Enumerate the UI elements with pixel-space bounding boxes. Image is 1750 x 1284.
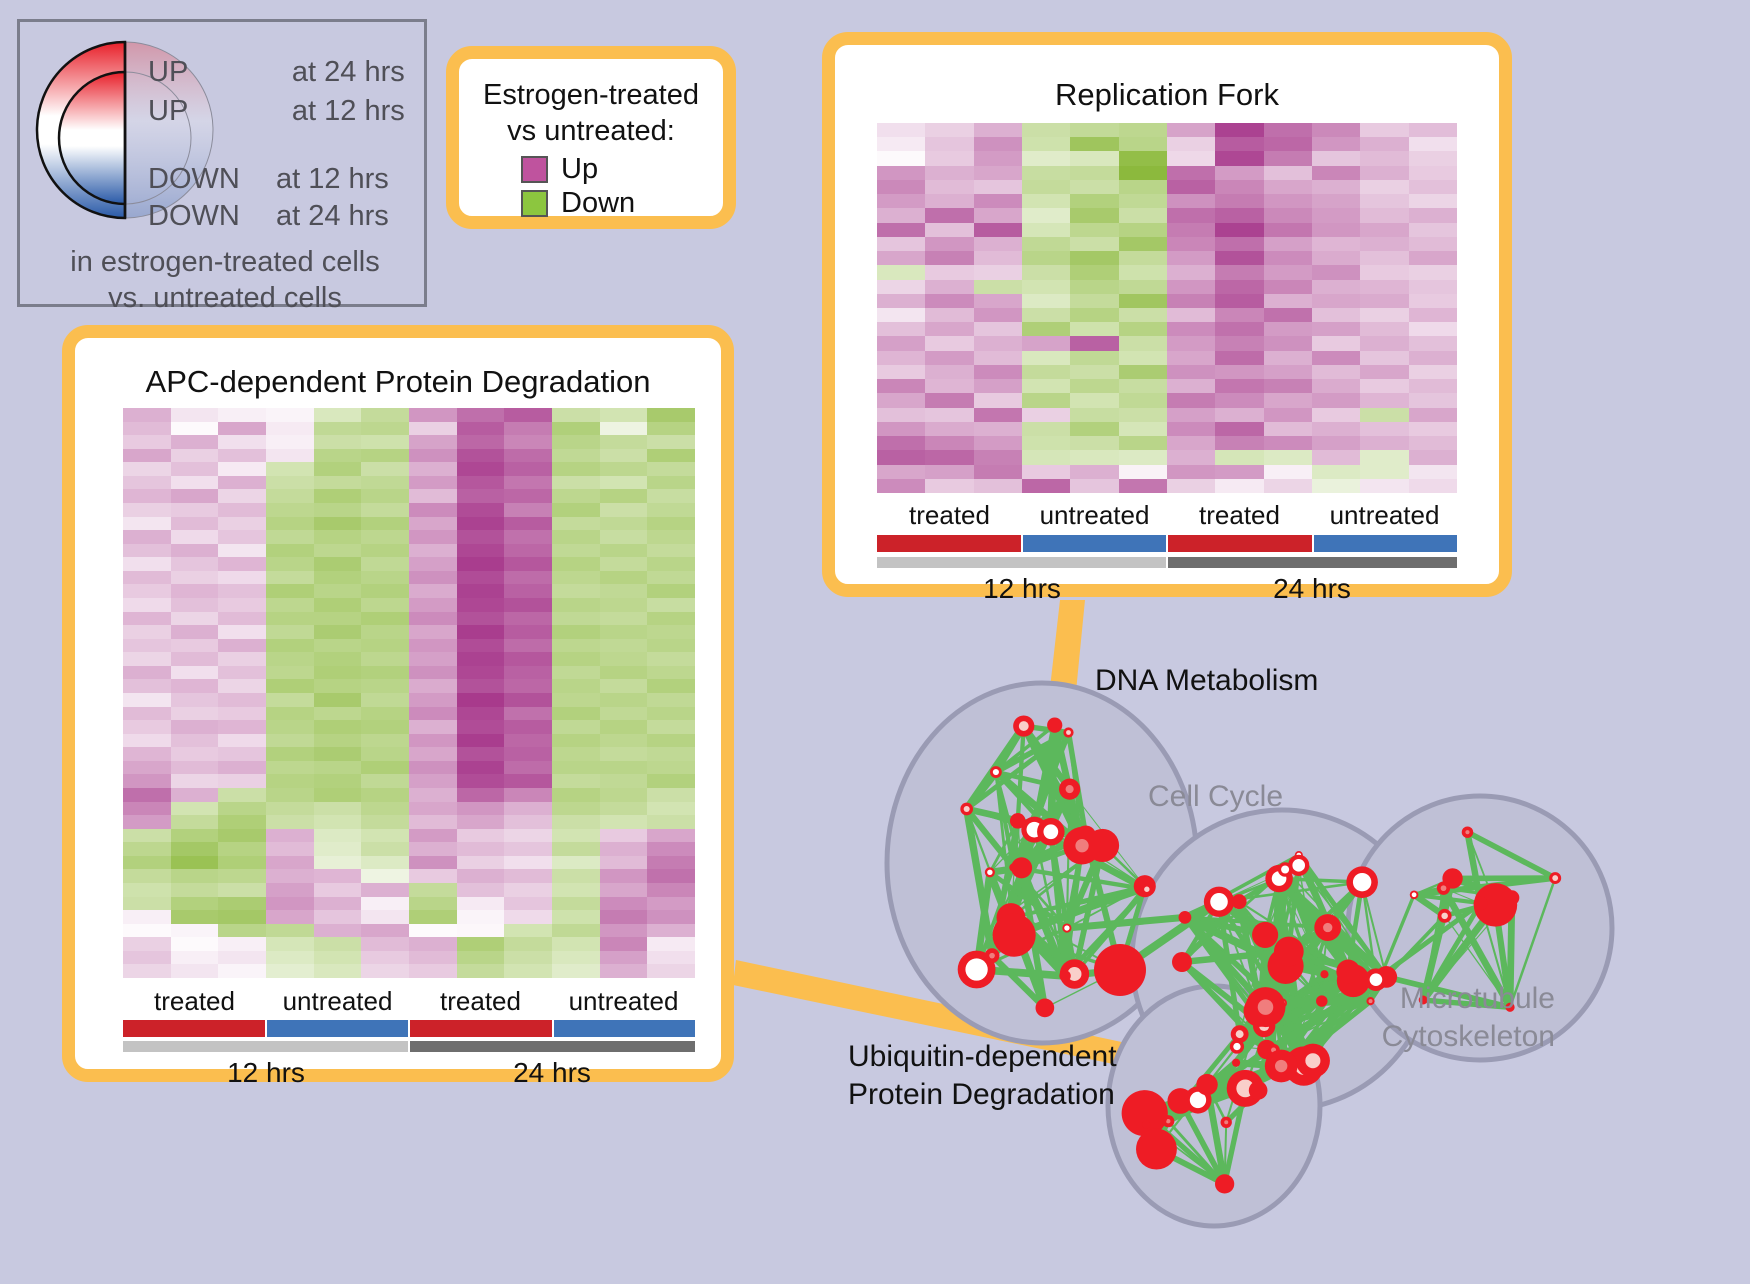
heatmap-cell [361, 571, 409, 585]
heatmap-cell [218, 652, 266, 666]
heatmap-cell [552, 449, 600, 463]
heatmap-cell [925, 336, 973, 350]
heatmap-cell [409, 462, 457, 476]
heatmap-cell [1409, 123, 1457, 137]
key-row-3-label: DOWN [148, 200, 240, 232]
heatmap-cell [171, 883, 219, 897]
heatmap-cell [266, 707, 314, 721]
heatmap-cell [600, 449, 648, 463]
heatmap-cell [361, 761, 409, 775]
heatmap-cell [877, 237, 925, 251]
heatmap-cell [1312, 450, 1360, 464]
heatmap-cell [504, 829, 552, 843]
network-node[interactable] [1047, 717, 1062, 732]
heatmap-cell [504, 584, 552, 598]
heatmap-cell [1264, 379, 1312, 393]
heatmap-cell [877, 123, 925, 137]
heatmap-cell [600, 422, 648, 436]
heatmap-cell [974, 208, 1022, 222]
heatmap-cell [409, 435, 457, 449]
heatmap-cell [925, 194, 973, 208]
heatmap-cell [409, 422, 457, 436]
heatmap-cell [361, 639, 409, 653]
heatmap-cell [1022, 194, 1070, 208]
heatmap-cell [1264, 137, 1312, 151]
heatmap-cell [974, 137, 1022, 151]
network-node[interactable] [1063, 727, 1073, 737]
network-svg [790, 610, 1750, 1279]
heatmap-cell [123, 774, 171, 788]
network-node[interactable] [1036, 999, 1055, 1018]
legend-item-up: Up [521, 155, 598, 184]
heatmap-cell [1167, 351, 1215, 365]
heatmap-cell [1167, 194, 1215, 208]
heatmap-cell [457, 951, 505, 965]
heatmap-cell [361, 544, 409, 558]
heatmap-cell [1119, 322, 1167, 336]
heatmap-cell [974, 436, 1022, 450]
heatmap-cell [1167, 237, 1215, 251]
heatmap-cell [171, 761, 219, 775]
heatmap-cell [457, 625, 505, 639]
network-node[interactable] [1265, 1050, 1298, 1083]
heatmap-cell [925, 237, 973, 251]
heatmap-cell [123, 571, 171, 585]
replication-fork-condition-bar [877, 535, 1457, 552]
heatmap-cell [266, 476, 314, 490]
heatmap-cell [647, 761, 695, 775]
heatmap-cell [552, 679, 600, 693]
heatmap-cell [974, 336, 1022, 350]
heatmap-cell [1167, 322, 1215, 336]
network-node[interactable] [1278, 862, 1292, 876]
heatmap-cell [1409, 408, 1457, 422]
heatmap-cell [552, 842, 600, 856]
heatmap-cell [1070, 408, 1118, 422]
heatmap-cell [266, 679, 314, 693]
heatmap-cell [266, 652, 314, 666]
heatmap-cell [600, 503, 648, 517]
heatmap-cell [1215, 465, 1263, 479]
network-node[interactable] [1011, 857, 1032, 878]
network-node[interactable] [1136, 1129, 1177, 1170]
heatmap-cell [647, 503, 695, 517]
heatmap-cell [925, 436, 973, 450]
heatmap-cell [218, 612, 266, 626]
heatmap-cell [552, 788, 600, 802]
heatmap-cell [647, 720, 695, 734]
heatmap-cell [1312, 351, 1360, 365]
heatmap-cell [504, 747, 552, 761]
heatmap-cell [552, 666, 600, 680]
heatmap-cell [409, 964, 457, 978]
condition-color-block [1314, 535, 1458, 552]
network-node[interactable] [993, 914, 1036, 957]
heatmap-cell [361, 652, 409, 666]
heatmap-cell [218, 571, 266, 585]
heatmap-cell [1360, 422, 1408, 436]
network-node[interactable] [1366, 997, 1374, 1005]
heatmap-cell [457, 693, 505, 707]
network-node-core [965, 958, 987, 980]
heatmap-cell [1215, 208, 1263, 222]
network-node[interactable] [1232, 1059, 1240, 1067]
heatmap-cell [1409, 336, 1457, 350]
heatmap-cell [925, 351, 973, 365]
heatmap-cell [647, 734, 695, 748]
heatmap-cell [504, 924, 552, 938]
network-node[interactable] [1172, 952, 1192, 972]
heatmap-cell [1070, 208, 1118, 222]
network-node[interactable] [1204, 887, 1234, 917]
heatmap-cell [1264, 365, 1312, 379]
heatmap-cell [409, 774, 457, 788]
heatmap-cell [552, 951, 600, 965]
heatmap-cell [409, 408, 457, 422]
heatmap-cell [123, 815, 171, 829]
heatmap-cell [552, 829, 600, 843]
network-node[interactable] [1010, 813, 1026, 829]
heatmap-cell [1215, 436, 1263, 450]
heatmap-cell [266, 788, 314, 802]
heatmap-cell [266, 910, 314, 924]
time-label: 24 hrs [409, 1057, 695, 1089]
network-node[interactable] [1474, 896, 1488, 910]
heatmap-cell [504, 734, 552, 748]
heatmap-cell [361, 517, 409, 531]
network-node[interactable] [1296, 1044, 1330, 1078]
heatmap-cell [1215, 194, 1263, 208]
heatmap-cell [552, 774, 600, 788]
heatmap-cell [171, 720, 219, 734]
heatmap-cell [600, 856, 648, 870]
heatmap-cell [457, 435, 505, 449]
heatmap-cell [1119, 223, 1167, 237]
heatmap-cell [1215, 123, 1263, 137]
heatmap-cell [647, 517, 695, 531]
network-node[interactable] [1314, 914, 1341, 941]
time-color-block [877, 557, 1168, 568]
heatmap-cell [1360, 365, 1408, 379]
heatmap-cell [171, 612, 219, 626]
heatmap-cell [171, 788, 219, 802]
heatmap-cell [171, 842, 219, 856]
heatmap-cell [123, 707, 171, 721]
heatmap-cell [647, 612, 695, 626]
heatmap-cell [1312, 393, 1360, 407]
color-legend-title-line-1: Estrogen-treated [459, 79, 723, 112]
heatmap-cell [123, 693, 171, 707]
heatmap-cell [1264, 151, 1312, 165]
heatmap-cell [647, 462, 695, 476]
heatmap-cell [123, 883, 171, 897]
heatmap-cell [1215, 351, 1263, 365]
heatmap-cell [123, 489, 171, 503]
circle-legend-caption: in estrogen-treated cells vs. untreated … [20, 244, 430, 316]
heatmap-cell [925, 450, 973, 464]
heatmap-cell [361, 598, 409, 612]
heatmap-cell [266, 666, 314, 680]
heatmap-cell [1022, 351, 1070, 365]
heatmap-cell [974, 365, 1022, 379]
heatmap-cell [925, 465, 973, 479]
heatmap-cell [123, 761, 171, 775]
heatmap-cell [1070, 450, 1118, 464]
heatmap-cell [409, 517, 457, 531]
heatmap-cell [504, 883, 552, 897]
heatmap-cell [600, 897, 648, 911]
heatmap-cell [123, 530, 171, 544]
heatmap-cell [171, 951, 219, 965]
network-node[interactable] [1316, 995, 1327, 1006]
network-node[interactable] [1221, 1117, 1232, 1128]
heatmap-cell [1022, 280, 1070, 294]
heatmap-cell [1360, 223, 1408, 237]
heatmap-cell [1070, 336, 1118, 350]
heatmap-cell [218, 747, 266, 761]
heatmap-cell [552, 856, 600, 870]
heatmap-cell [409, 761, 457, 775]
network-node-core [1064, 925, 1069, 930]
heatmap-cell [1264, 308, 1312, 322]
heatmap-cell [218, 598, 266, 612]
network-node[interactable] [1196, 1074, 1217, 1095]
heatmap-cell [1312, 223, 1360, 237]
network-node[interactable] [1336, 960, 1360, 984]
heatmap-cell [266, 544, 314, 558]
replication-fork-condition-labels: treateduntreatedtreateduntreated [877, 500, 1457, 531]
heatmap-cell [552, 408, 600, 422]
heatmap-cell [1409, 322, 1457, 336]
network-node-core [989, 953, 995, 959]
heatmap-cell [600, 869, 648, 883]
heatmap-cell [925, 123, 973, 137]
heatmap-cell [1215, 422, 1263, 436]
heatmap-cell [1312, 123, 1360, 137]
heatmap-cell [171, 856, 219, 870]
heatmap-cell [1264, 479, 1312, 493]
heatmap-cell [974, 280, 1022, 294]
heatmap-cell [1070, 294, 1118, 308]
heatmap-cell [600, 951, 648, 965]
heatmap-cell [1409, 479, 1457, 493]
heatmap-cell [504, 571, 552, 585]
heatmap-cell [1409, 351, 1457, 365]
heatmap-cell [361, 449, 409, 463]
heatmap-cell [314, 774, 362, 788]
heatmap-cell [1022, 151, 1070, 165]
heatmap-cell [647, 557, 695, 571]
heatmap-cell [266, 517, 314, 531]
network-node[interactable] [1013, 715, 1034, 736]
network-node[interactable] [1462, 826, 1473, 837]
network-node[interactable] [1410, 890, 1419, 899]
heatmap-cell [1022, 465, 1070, 479]
heatmap-cell [361, 774, 409, 788]
network-node[interactable] [1437, 882, 1450, 895]
heatmap-cell [361, 788, 409, 802]
heatmap-cell [266, 422, 314, 436]
circle-legend-box: UP at 24 hrs UP at 12 hrs DOWN at 12 hrs… [17, 19, 427, 307]
heatmap-cell [647, 937, 695, 951]
heatmap-cell [1312, 208, 1360, 222]
network-node[interactable] [1549, 872, 1561, 884]
network-node[interactable] [1215, 1174, 1234, 1193]
heatmap-cell [314, 883, 362, 897]
network-diagram: DNA Metabolism Cell Cycle Microtubule Cy… [790, 610, 1750, 1279]
network-node[interactable] [990, 766, 1002, 778]
network-node[interactable] [1062, 923, 1071, 932]
heatmap-cell [171, 707, 219, 721]
heatmap-cell [218, 489, 266, 503]
heatmap-cell [504, 910, 552, 924]
condition-color-block [123, 1020, 267, 1037]
heatmap-cell [877, 151, 925, 165]
panel-replication-fork: Replication Fork treateduntreatedtreated… [822, 32, 1512, 597]
heatmap-cell [314, 707, 362, 721]
heatmap-cell [925, 408, 973, 422]
heatmap-cell [504, 462, 552, 476]
heatmap-cell [457, 774, 505, 788]
network-node[interactable] [1059, 970, 1070, 981]
heatmap-cell [361, 707, 409, 721]
heatmap-cell [1167, 408, 1215, 422]
network-node[interactable] [1438, 909, 1452, 923]
heatmap-cell [1167, 123, 1215, 137]
heatmap-cell [552, 734, 600, 748]
heatmap-cell [1022, 137, 1070, 151]
network-node[interactable] [1059, 779, 1080, 800]
heatmap-cell [1119, 479, 1167, 493]
heatmap-cell [877, 408, 925, 422]
heatmap-cell [314, 489, 362, 503]
network-node-core [1281, 865, 1289, 873]
network-node[interactable] [1232, 894, 1247, 909]
heatmap-cell [504, 435, 552, 449]
heatmap-cell [877, 137, 925, 151]
heatmap-cell [1167, 223, 1215, 237]
network-node[interactable] [1246, 987, 1286, 1027]
up-label: Up [561, 155, 598, 184]
heatmap-cell [314, 639, 362, 653]
heatmap-cell [1360, 379, 1408, 393]
heatmap-cell [314, 720, 362, 734]
heatmap-cell [1215, 137, 1263, 151]
heatmap-cell [1409, 365, 1457, 379]
network-node[interactable] [1346, 866, 1378, 898]
network-node[interactable] [1142, 1120, 1150, 1128]
heatmap-cell [1167, 379, 1215, 393]
heatmap-cell [1119, 208, 1167, 222]
heatmap-cell [266, 937, 314, 951]
heatmap-cell [218, 856, 266, 870]
heatmap-cell [457, 679, 505, 693]
network-node[interactable] [1179, 911, 1192, 924]
heatmap-cell [1264, 280, 1312, 294]
heatmap-cell [600, 829, 648, 843]
heatmap-cell [600, 788, 648, 802]
time-label: 12 hrs [123, 1057, 409, 1089]
heatmap-cell [314, 910, 362, 924]
network-node[interactable] [985, 867, 995, 877]
heatmap-cell [361, 720, 409, 734]
heatmap-cell [925, 479, 973, 493]
network-node[interactable] [1063, 827, 1101, 865]
heatmap-cell [1312, 479, 1360, 493]
network-node[interactable] [960, 803, 973, 816]
heatmap-cell [504, 625, 552, 639]
heatmap-cell [925, 180, 973, 194]
heatmap-cell [925, 265, 973, 279]
heatmap-cell [361, 937, 409, 951]
heatmap-cell [504, 530, 552, 544]
network-node[interactable] [1141, 884, 1152, 895]
up-color-swatch [521, 156, 548, 183]
heatmap-cell [218, 734, 266, 748]
heatmap-cell [1167, 336, 1215, 350]
heatmap-cell [409, 910, 457, 924]
heatmap-cell [218, 951, 266, 965]
heatmap-cell [647, 489, 695, 503]
heatmap-cell [314, 924, 362, 938]
heatmap-cell [877, 194, 925, 208]
heatmap-cell [925, 365, 973, 379]
heatmap-cell [552, 598, 600, 612]
network-node[interactable] [1094, 944, 1146, 996]
heatmap-cell [1215, 251, 1263, 265]
network-node[interactable] [1037, 818, 1065, 846]
heatmap-cell [1022, 336, 1070, 350]
heatmap-cell [1022, 208, 1070, 222]
heatmap-cell [600, 517, 648, 531]
heatmap-cell [647, 774, 695, 788]
heatmap-cell [1409, 450, 1457, 464]
network-node[interactable] [985, 948, 1000, 963]
heatmap-cell [504, 802, 552, 816]
heatmap-cell [361, 951, 409, 965]
heatmap-cell [314, 435, 362, 449]
heatmap-cell [314, 856, 362, 870]
network-node[interactable] [1274, 937, 1304, 967]
network-node[interactable] [1320, 970, 1328, 978]
heatmap-cell [1264, 422, 1312, 436]
heatmap-cell [409, 734, 457, 748]
heatmap-cell [877, 308, 925, 322]
heatmap-cell [1022, 308, 1070, 322]
heatmap-cell [409, 530, 457, 544]
heatmap-cell [314, 422, 362, 436]
heatmap-cell [1264, 450, 1312, 464]
heatmap-cell [600, 462, 648, 476]
network-node[interactable] [1230, 1039, 1244, 1053]
heatmap-cell [409, 503, 457, 517]
heatmap-cell [171, 408, 219, 422]
heatmap-cell [504, 476, 552, 490]
network-node[interactable] [1252, 922, 1278, 948]
heatmap-cell [361, 476, 409, 490]
heatmap-cell [1119, 308, 1167, 322]
heatmap-cell [457, 449, 505, 463]
heatmap-cell [647, 625, 695, 639]
heatmap-cell [361, 679, 409, 693]
heatmap-cell [218, 761, 266, 775]
network-node[interactable] [1249, 1081, 1268, 1100]
heatmap-cell [266, 557, 314, 571]
heatmap-cell [877, 223, 925, 237]
heatmap-cell [600, 747, 648, 761]
heatmap-cell [361, 666, 409, 680]
heatmap-cell [647, 693, 695, 707]
